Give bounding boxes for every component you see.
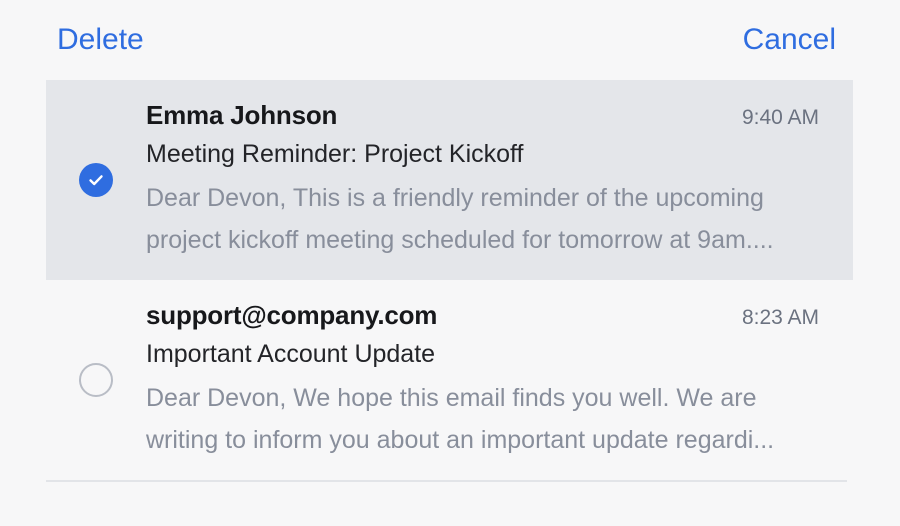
- email-content: support@company.com 8:23 AM Important Ac…: [146, 300, 853, 461]
- email-preview: Dear Devon, This is a friendly reminder …: [146, 177, 806, 261]
- email-header-line: Emma Johnson 9:40 AM: [146, 100, 819, 131]
- delete-button[interactable]: Delete: [57, 22, 144, 58]
- email-preview: Dear Devon, We hope this email finds you…: [146, 377, 806, 461]
- select-checkbox[interactable]: [46, 280, 146, 480]
- selection-toolbar: Delete Cancel: [0, 0, 900, 80]
- check-circle-filled-icon[interactable]: [79, 163, 113, 197]
- email-list: Emma Johnson 9:40 AM Meeting Reminder: P…: [0, 80, 900, 482]
- cancel-button[interactable]: Cancel: [743, 22, 836, 58]
- email-content: Emma Johnson 9:40 AM Meeting Reminder: P…: [146, 100, 853, 261]
- email-list-item[interactable]: Emma Johnson 9:40 AM Meeting Reminder: P…: [46, 80, 853, 280]
- email-subject: Meeting Reminder: Project Kickoff: [146, 140, 819, 169]
- email-timestamp: 9:40 AM: [730, 106, 819, 130]
- email-list-item[interactable]: support@company.com 8:23 AM Important Ac…: [46, 280, 853, 480]
- email-subject: Important Account Update: [146, 340, 819, 369]
- email-timestamp: 8:23 AM: [730, 306, 819, 330]
- email-header-line: support@company.com 8:23 AM: [146, 300, 819, 331]
- list-divider: [46, 480, 847, 482]
- email-selection-screen: Delete Cancel Emma Johnson 9:40 AM Meeti…: [0, 0, 900, 526]
- circle-outline-icon[interactable]: [79, 363, 113, 397]
- select-checkbox[interactable]: [46, 80, 146, 280]
- email-sender: Emma Johnson: [146, 100, 337, 131]
- email-sender: support@company.com: [146, 300, 437, 331]
